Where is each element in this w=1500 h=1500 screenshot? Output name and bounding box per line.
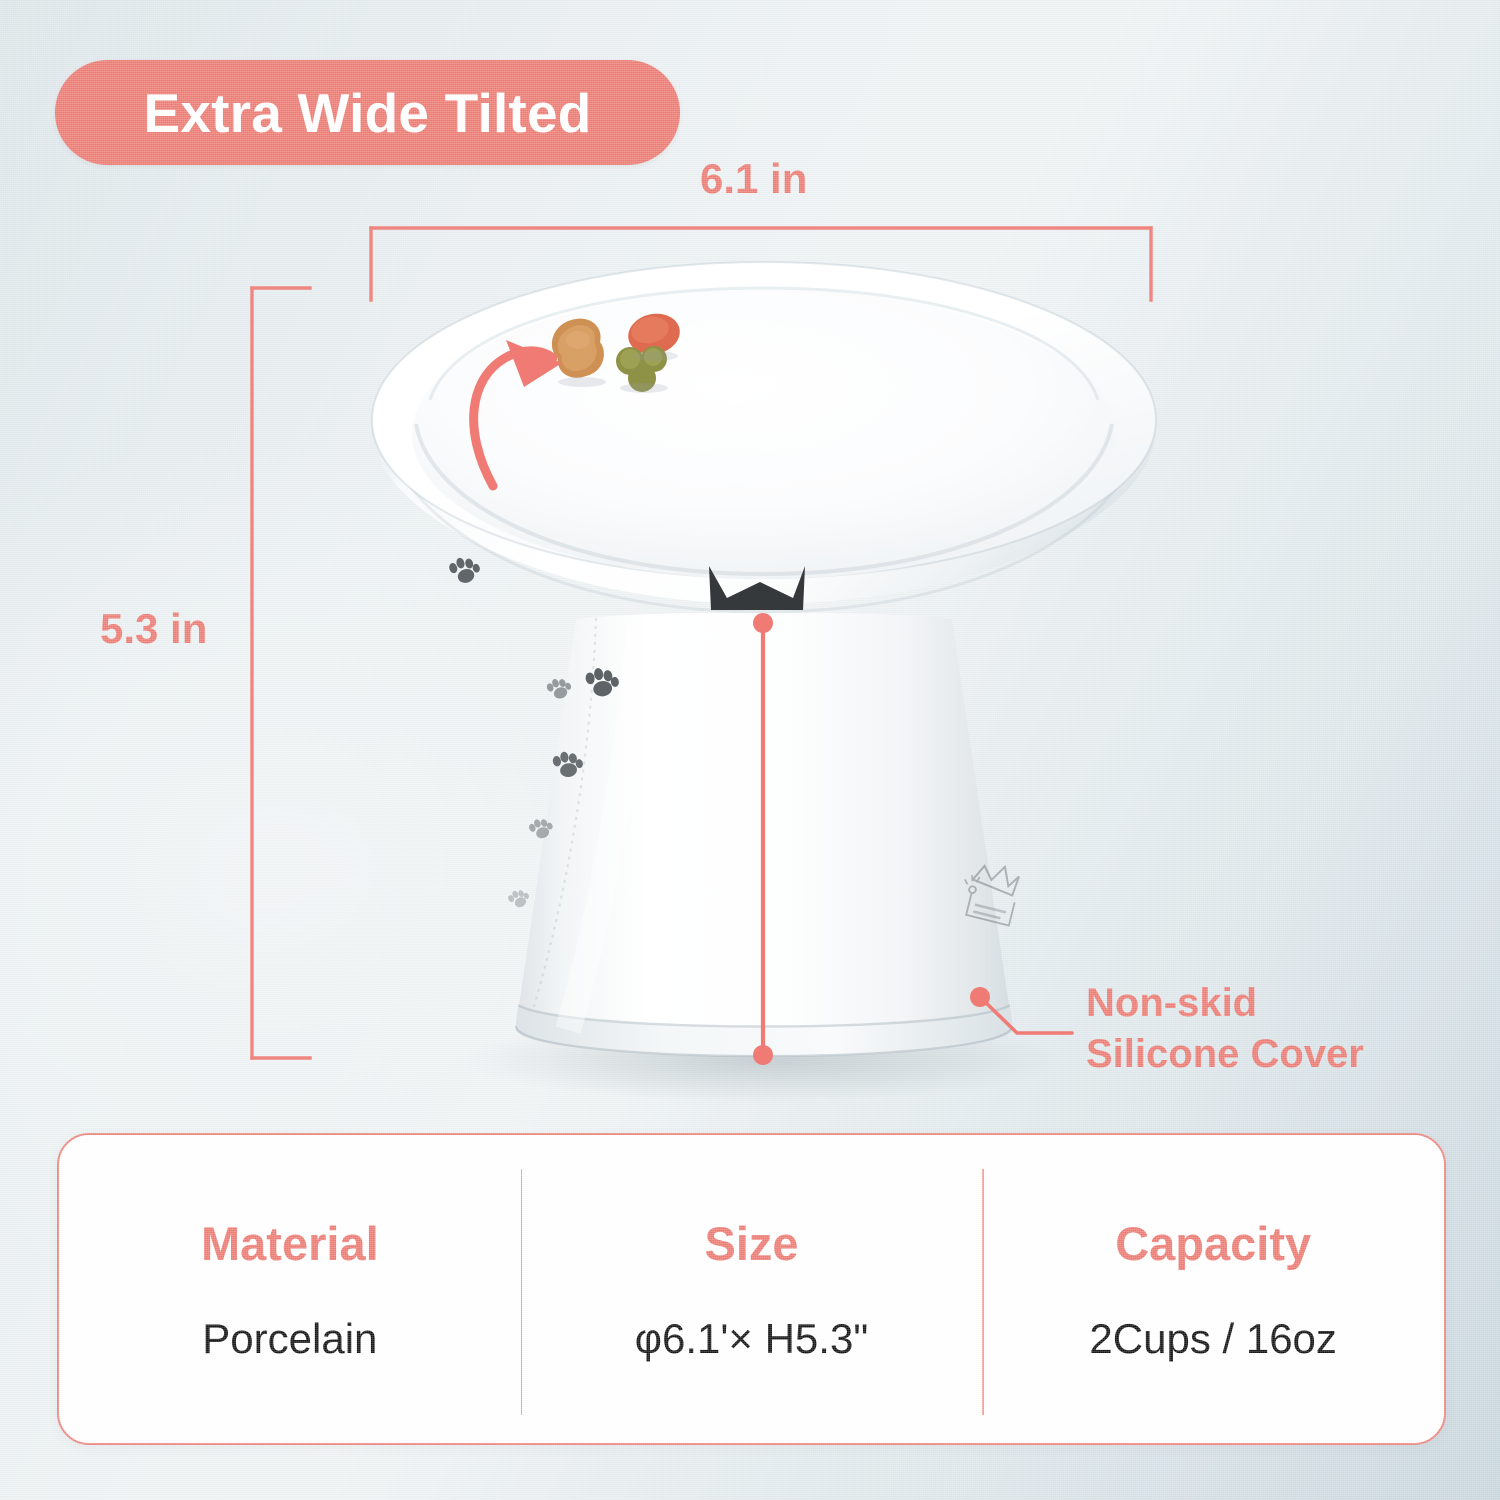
stand-measure-icon (753, 613, 773, 1065)
leader-line-icon (970, 987, 1072, 1033)
callout-graphics (0, 0, 1500, 1500)
curved-arrow-icon (474, 340, 562, 486)
infographic-canvas: Extra Wide Tilted 6.1 in 5.3 in 3.7 in C… (0, 0, 1500, 1500)
